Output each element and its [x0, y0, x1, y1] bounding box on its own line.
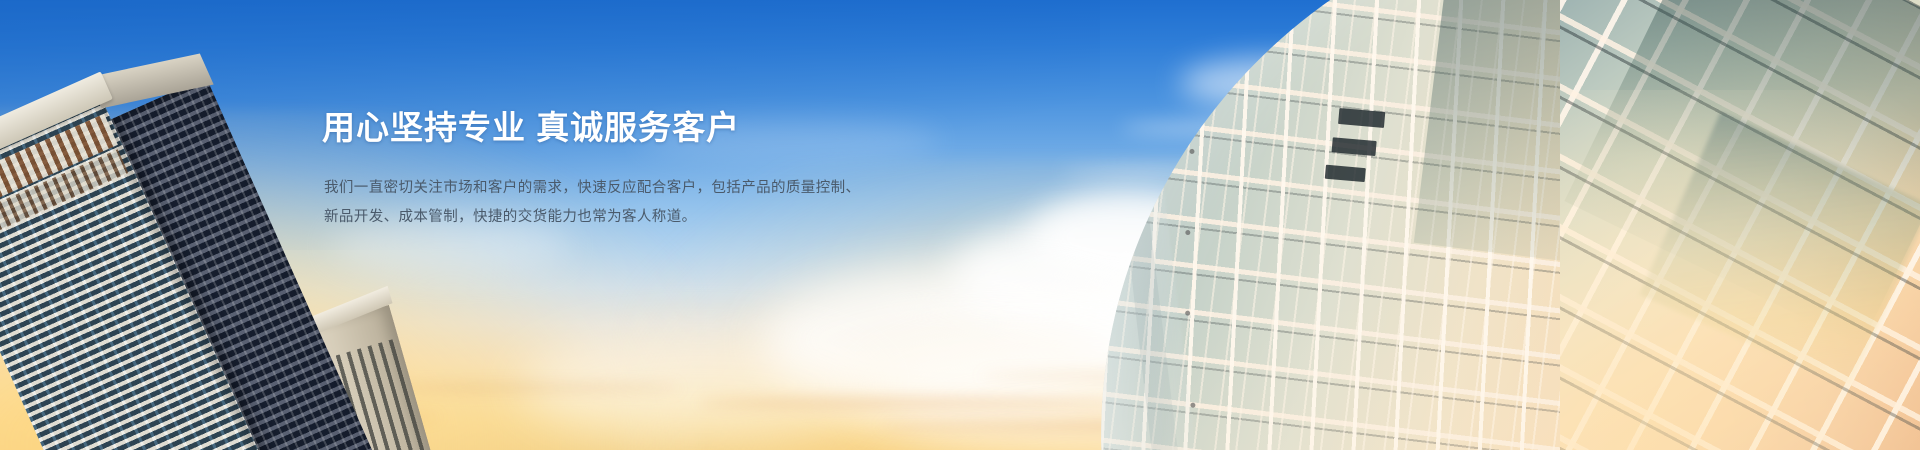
- banner-description-line-1: 我们一直密切关注市场和客户的需求，快速反应配合客户，包括产品的质量控制、: [324, 174, 1082, 203]
- banner-description-line-2: 新品开发、成本管制，快捷的交货能力也常为客人称道。: [324, 203, 1082, 232]
- far-right-glass-facade: [1560, 0, 1920, 450]
- banner-copy-block: 用心坚持专业 真诚服务客户 我们一直密切关注市场和客户的需求，快速反应配合客户，…: [322, 108, 1082, 232]
- horizon-streak-1: [700, 398, 1120, 408]
- horizon-streak-3: [380, 384, 680, 392]
- glass-facade-warm-glow: [1560, 90, 1920, 450]
- hero-banner: 用心坚持专业 真诚服务客户 我们一直密切关注市场和客户的需求，快速反应配合客户，…: [0, 0, 1920, 450]
- banner-description: 我们一直密切关注市场和客户的需求，快速反应配合客户，包括产品的质量控制、 新品开…: [324, 174, 1082, 232]
- banner-headline: 用心坚持专业 真诚服务客户: [322, 108, 1082, 148]
